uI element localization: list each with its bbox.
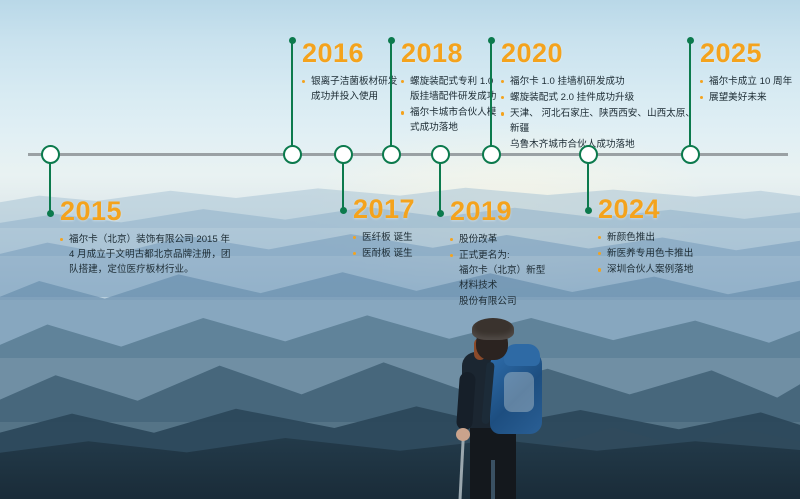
timeline-bullet: 新颜色推出	[598, 230, 723, 245]
timeline-year-label-2025: 2025	[700, 40, 800, 67]
timeline-entry-2024: 2024新颜色推出新医养专用色卡推出深圳合伙人案例落地	[598, 196, 723, 278]
timeline-bullet: 正式更名为: 福尔卡（北京）新型材料技术 股份有限公司	[450, 248, 550, 309]
hiker-figure	[418, 310, 558, 499]
timeline-node-2017[interactable]	[334, 145, 353, 164]
timeline-bullet: 福尔卡成立 10 周年	[700, 74, 800, 89]
timeline-entry-2016: 2016银离子洁菌板材研发 成功并投入使用	[302, 40, 402, 105]
timeline-year-label-2019: 2019	[450, 198, 550, 225]
timeline-stem-2018	[390, 40, 392, 153]
timeline-year-label-2018: 2018	[401, 40, 501, 67]
timeline-bullet: 新医养专用色卡推出	[598, 246, 723, 261]
timeline-bullet: 展望美好未来	[700, 90, 800, 105]
timeline-bullet: 福尔卡 1.0 挂墙机研发成功	[501, 74, 701, 89]
timeline-year-label-2020: 2020	[501, 40, 701, 67]
timeline-stem-dot-2024	[585, 207, 592, 214]
timeline-bullet-list-2018: 螺旋装配式专利 1.0 版挂墙配件研发成功福尔卡城市合伙人模 式成功落地	[401, 74, 501, 136]
timeline-axis	[28, 153, 788, 156]
timeline-stem-dot-2019	[437, 210, 444, 217]
timeline-node-2020[interactable]	[482, 145, 501, 164]
timeline-bullet-list-2016: 银离子洁菌板材研发 成功并投入使用	[302, 74, 402, 104]
timeline-stem-dot-2016	[289, 37, 296, 44]
timeline-bullet: 螺旋装配式专利 1.0 版挂墙配件研发成功	[401, 74, 501, 104]
timeline-entry-2019: 2019股份改革正式更名为: 福尔卡（北京）新型材料技术 股份有限公司	[450, 198, 550, 310]
timeline-year-label-2024: 2024	[598, 196, 723, 223]
timeline-entry-2020: 2020福尔卡 1.0 挂墙机研发成功螺旋装配式 2.0 挂件成功升级天津、 河…	[501, 40, 701, 153]
timeline-stem-2016	[291, 40, 293, 153]
timeline-node-2018[interactable]	[382, 145, 401, 164]
timeline-stem-2020	[490, 40, 492, 153]
timeline-bullet-list-2017: 医纤板 诞生医耐板 诞生	[353, 230, 423, 261]
timeline-entry-2025: 2025福尔卡成立 10 周年展望美好未来	[700, 40, 800, 106]
backpack-front-panel	[504, 372, 534, 412]
timeline-year-label-2015: 2015	[60, 198, 235, 225]
timeline-node-2016[interactable]	[283, 145, 302, 164]
timeline-stem-dot-2020	[488, 37, 495, 44]
timeline-bullet: 螺旋装配式 2.0 挂件成功升级	[501, 90, 701, 105]
timeline-bullet: 医耐板 诞生	[353, 246, 423, 261]
timeline-bullet: 福尔卡（北京）装饰有限公司 2015 年 4 月成立于文明古都北京品牌注册，团 …	[60, 232, 235, 277]
timeline-stem-dot-2015	[47, 210, 54, 217]
timeline-node-2025[interactable]	[681, 145, 700, 164]
timeline-entry-2018: 2018螺旋装配式专利 1.0 版挂墙配件研发成功福尔卡城市合伙人模 式成功落地	[401, 40, 501, 137]
timeline-bullet: 福尔卡城市合伙人模 式成功落地	[401, 105, 501, 135]
timeline-stem-2025	[689, 40, 691, 153]
timeline-bullet: 医纤板 诞生	[353, 230, 423, 245]
trekking-pole	[458, 436, 465, 499]
timeline-poster: 2015福尔卡（北京）装饰有限公司 2015 年 4 月成立于文明古都北京品牌注…	[0, 0, 800, 499]
timeline-stem-dot-2017	[340, 207, 347, 214]
hiker-hat	[472, 318, 514, 340]
timeline-bullet-list-2019: 股份改革正式更名为: 福尔卡（北京）新型材料技术 股份有限公司	[450, 232, 550, 309]
timeline-bullet-list-2020: 福尔卡 1.0 挂墙机研发成功螺旋装配式 2.0 挂件成功升级天津、 河北石家庄…	[501, 74, 701, 152]
timeline-year-label-2017: 2017	[353, 196, 423, 223]
timeline-bullet: 天津、 河北石家庄、陕西西安、山西太原、新疆 乌鲁木齐城市合伙人成功落地	[501, 106, 701, 151]
hiker-leg-gap	[491, 460, 495, 499]
backpack-top-lid	[504, 344, 540, 366]
timeline-bullet: 银离子洁菌板材研发 成功并投入使用	[302, 74, 402, 104]
hiker-hand	[456, 428, 470, 441]
timeline-bullet: 深圳合伙人案例落地	[598, 262, 723, 277]
timeline-entry-2015: 2015福尔卡（北京）装饰有限公司 2015 年 4 月成立于文明古都北京品牌注…	[60, 198, 235, 278]
timeline-stem-dot-2018	[388, 37, 395, 44]
timeline-bullet-list-2015: 福尔卡（北京）装饰有限公司 2015 年 4 月成立于文明古都北京品牌注册，团 …	[60, 232, 235, 277]
timeline-node-2015[interactable]	[41, 145, 60, 164]
timeline-stem-dot-2025	[687, 37, 694, 44]
timeline-node-2019[interactable]	[431, 145, 450, 164]
timeline-node-2024[interactable]	[579, 145, 598, 164]
timeline-entry-2017: 2017医纤板 诞生医耐板 诞生	[353, 196, 423, 262]
timeline-year-label-2016: 2016	[302, 40, 402, 67]
timeline-bullet: 股份改革	[450, 232, 550, 247]
timeline-bullet-list-2025: 福尔卡成立 10 周年展望美好未来	[700, 74, 800, 105]
timeline-bullet-list-2024: 新颜色推出新医养专用色卡推出深圳合伙人案例落地	[598, 230, 723, 277]
